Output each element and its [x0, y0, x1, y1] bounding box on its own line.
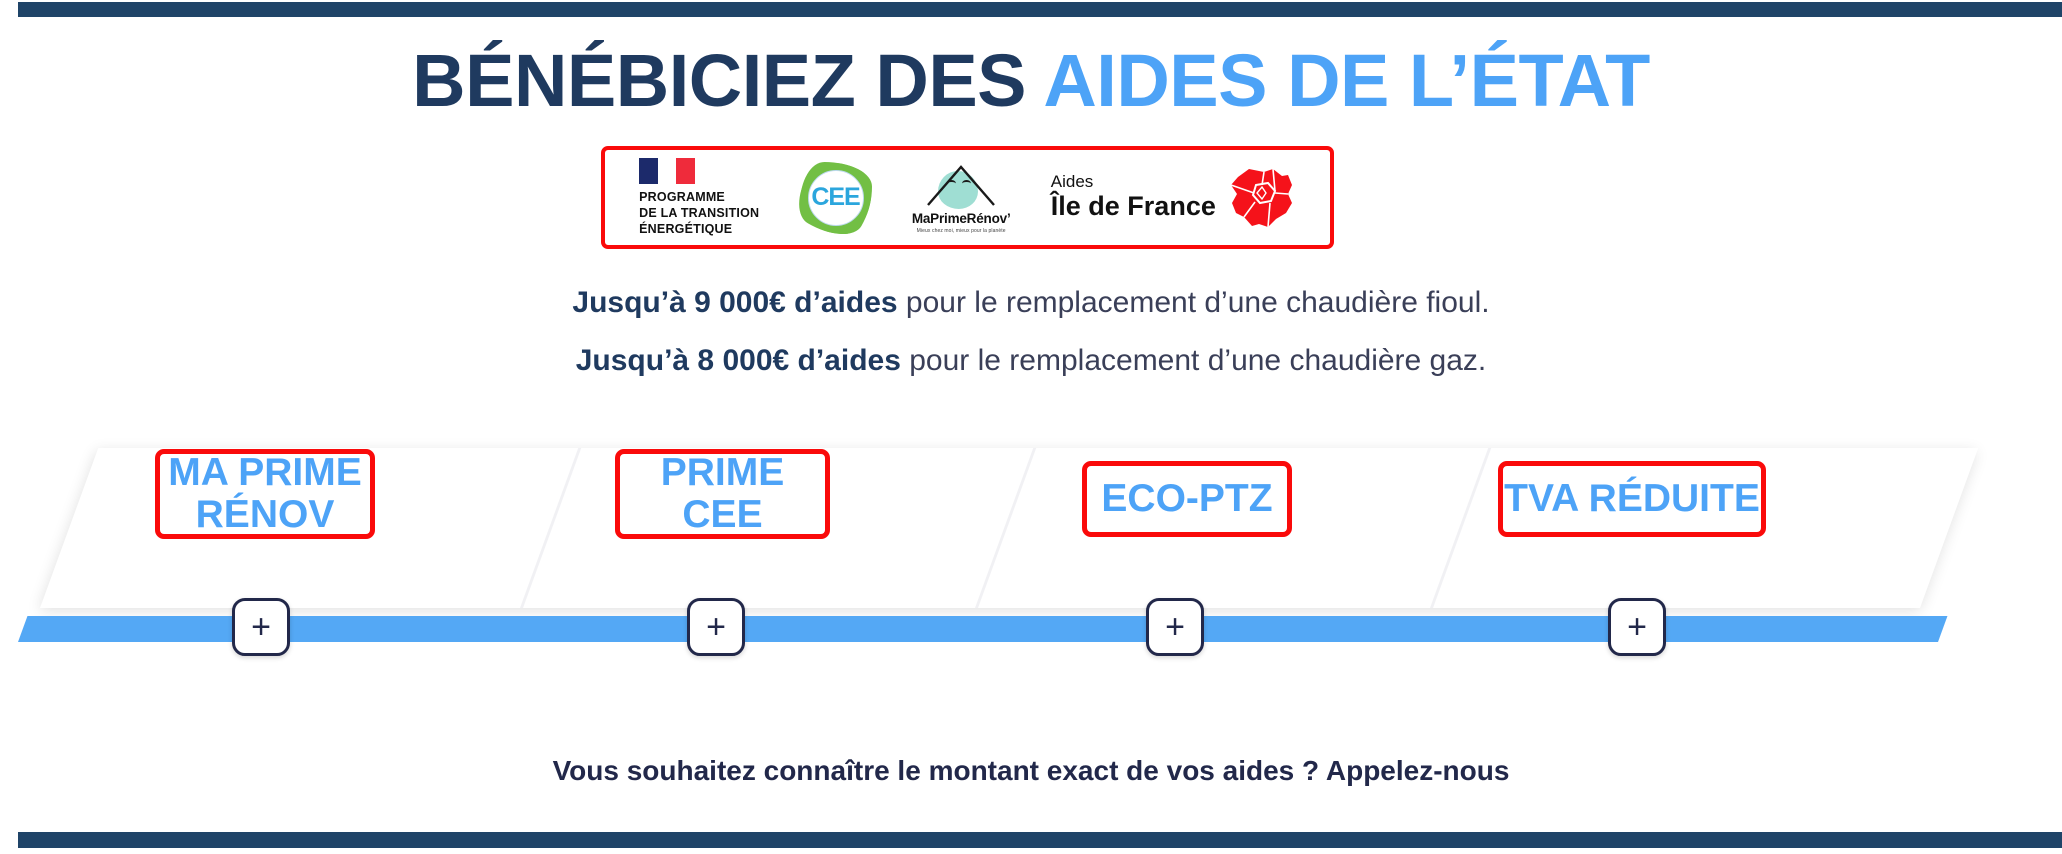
cee-inner-circle: CEE: [808, 170, 864, 226]
logo-pte-line2: DE LA TRANSITION: [639, 205, 759, 221]
expand-button-tva-reduite[interactable]: +: [1608, 598, 1666, 656]
logo-cee-label: CEE: [811, 183, 859, 212]
aid-card-prime-cee[interactable]: PRIME CEE: [615, 449, 830, 539]
aid-amount-gaz-rest: pour le remplacement d’une chaudière gaz…: [901, 344, 1486, 377]
logo-programme-transition-energetique: PROGRAMME DE LA TRANSITION ÉNERGÉTIQUE: [639, 158, 759, 237]
french-flag-icon: [639, 158, 695, 184]
aid-card-eco-ptz[interactable]: ECO-PTZ: [1082, 461, 1292, 537]
aid-amount-fioul-rest: pour le remplacement d’une chaudière fio…: [898, 286, 1490, 319]
page-title: BÉNÉBICIEZ DES AIDES DE L’ÉTAT: [0, 42, 2062, 120]
page-title-dark-part: BÉNÉBICIEZ DES: [412, 39, 1043, 122]
logo-idf-line1: Aides: [1051, 173, 1216, 192]
partner-logo-strip: PROGRAMME DE LA TRANSITION ÉNERGÉTIQUE C…: [601, 146, 1334, 249]
house-roof-icon: [922, 161, 1000, 209]
page-title-light-part: AIDES DE L’ÉTAT: [1043, 39, 1649, 122]
logo-aides-ile-de-france: Aides Île de France: [1051, 167, 1296, 229]
logo-maprimerenov-tagline: Mieux chez moi, mieux pour la planète: [917, 228, 1006, 234]
logo-maprimerenov-name: MaPrimeRénov’: [912, 211, 1011, 226]
aid-amount-line-fioul: Jusqu’à 9 000€ d’aides pour le remplacem…: [0, 286, 2062, 320]
aides-etat-page: BÉNÉBICIEZ DES AIDES DE L’ÉTAT PROGRAMME…: [0, 0, 2062, 854]
logo-pte-line3: ÉNERGÉTIQUE: [639, 221, 759, 237]
aid-amount-fioul-bold: Jusqu’à 9 000€ d’aides: [572, 286, 897, 319]
logo-pte-text: PROGRAMME DE LA TRANSITION ÉNERGÉTIQUE: [639, 189, 759, 237]
call-to-action-text: Vous souhaitez connaître le montant exac…: [0, 755, 2062, 787]
expand-button-prime-cee[interactable]: +: [687, 598, 745, 656]
aid-card-tva-reduite[interactable]: TVA RÉDUITE: [1498, 461, 1766, 537]
expand-button-ma-prime-renov[interactable]: +: [232, 598, 290, 656]
ile-de-france-map-icon: [1226, 167, 1296, 229]
aid-programs-panel: MA PRIME RÉNOV PRIME CEE ECO-PTZ TVA RÉD…: [0, 440, 2062, 660]
logo-idf-line2: Île de France: [1051, 191, 1216, 222]
aid-card-ma-prime-renov[interactable]: MA PRIME RÉNOV: [155, 449, 375, 539]
aid-amount-gaz-bold: Jusqu’à 8 000€ d’aides: [576, 344, 901, 377]
logo-pte-line1: PROGRAMME: [639, 189, 759, 205]
bottom-navy-rule: [18, 832, 2062, 848]
logo-cee: CEE: [800, 162, 872, 234]
maprimerenov-mark: [922, 161, 1000, 209]
aid-amount-line-gaz: Jusqu’à 8 000€ d’aides pour le remplacem…: [0, 344, 2062, 378]
top-navy-rule: [18, 2, 2062, 17]
expand-button-eco-ptz[interactable]: +: [1146, 598, 1204, 656]
logo-maprimerenov: MaPrimeRénov’ Mieux chez moi, mieux pour…: [912, 161, 1011, 234]
